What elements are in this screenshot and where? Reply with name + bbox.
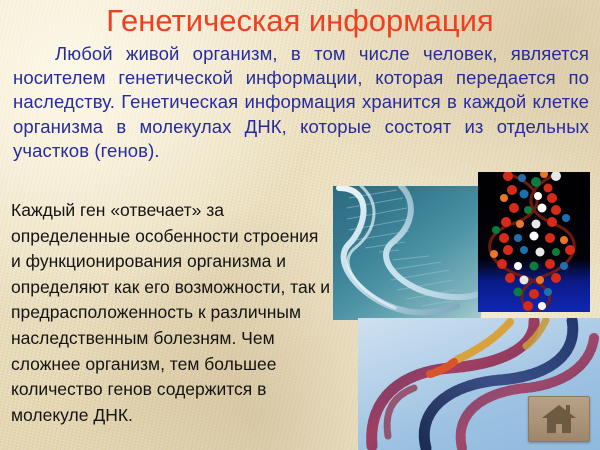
slide-title: Генетическая информация xyxy=(0,2,600,40)
dna-helix-graphic xyxy=(333,186,481,320)
home-icon xyxy=(542,405,576,433)
home-button[interactable]: На главную xyxy=(528,396,590,442)
dna-double-helix-blue-image xyxy=(333,186,481,320)
presentation-slide: Генетическая информация Любой живой орга… xyxy=(0,0,600,450)
intro-paragraph: Любой живой организм, в том числе челове… xyxy=(13,42,589,163)
home-icon-door xyxy=(556,424,562,433)
genes-paragraph: Каждый ген «отвечает» за определенные ос… xyxy=(11,198,333,428)
dna-ball-and-stick-model-image xyxy=(478,172,590,312)
home-button-label: На главную xyxy=(529,397,530,398)
dna-model-graphic xyxy=(478,172,590,312)
